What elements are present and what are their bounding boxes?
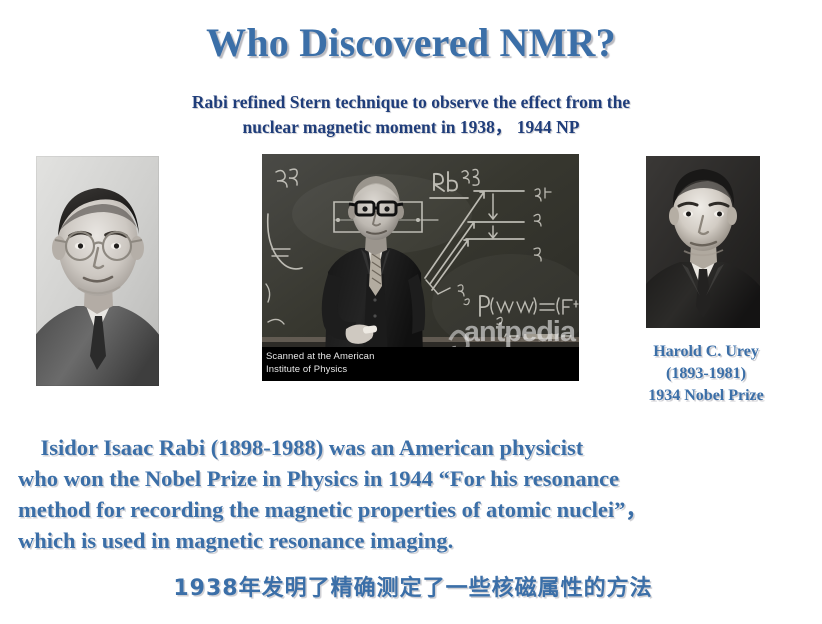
scan-caption-line-2: Institute of Physics [266, 363, 579, 376]
urey-portrait-image [646, 156, 760, 328]
body-line-2: who won the Nobel Prize in Physics in 19… [18, 463, 808, 494]
urey-caption-name: Harold C. Urey [626, 341, 786, 363]
urey-caption: Harold C. Urey (1893-1981) 1934 Nobel Pr… [626, 341, 786, 407]
photo-rabi-portrait [36, 156, 159, 386]
rabi-portrait-image [36, 156, 159, 386]
page-title: Who Discovered NMR? [0, 0, 822, 64]
body-line-4: which is used in magnetic resonance imag… [18, 525, 808, 556]
photo-band: antpedia 分析测试百科网 Scanned at the American… [0, 141, 822, 391]
subtitle-line-2: nuclear magnetic moment in 1938， 1944 NP [118, 115, 704, 140]
scan-source-caption: Scanned at the American Institute of Phy… [262, 347, 579, 381]
subtitle-line-1: Rabi refined Stern technique to observe … [118, 90, 704, 115]
slide-subtitle: Rabi refined Stern technique to observe … [0, 64, 822, 141]
scan-caption-line-1: Scanned at the American [266, 350, 579, 363]
photo-urey-portrait [646, 156, 760, 328]
photo-rabi-blackboard: antpedia 分析测试百科网 Scanned at the American… [262, 154, 579, 381]
body-line-1: Isidor Isaac Rabi (1898-1988) was an Ame… [18, 432, 808, 463]
body-line-3: method for recording the magnetic proper… [18, 494, 808, 525]
urey-caption-prize: 1934 Nobel Prize [626, 385, 786, 407]
chinese-summary-line: 1938年发明了精确测定了一些核磁属性的方法 [18, 570, 808, 602]
body-paragraph: Isidor Isaac Rabi (1898-1988) was an Ame… [18, 432, 808, 556]
urey-caption-dates: (1893-1981) [626, 363, 786, 385]
